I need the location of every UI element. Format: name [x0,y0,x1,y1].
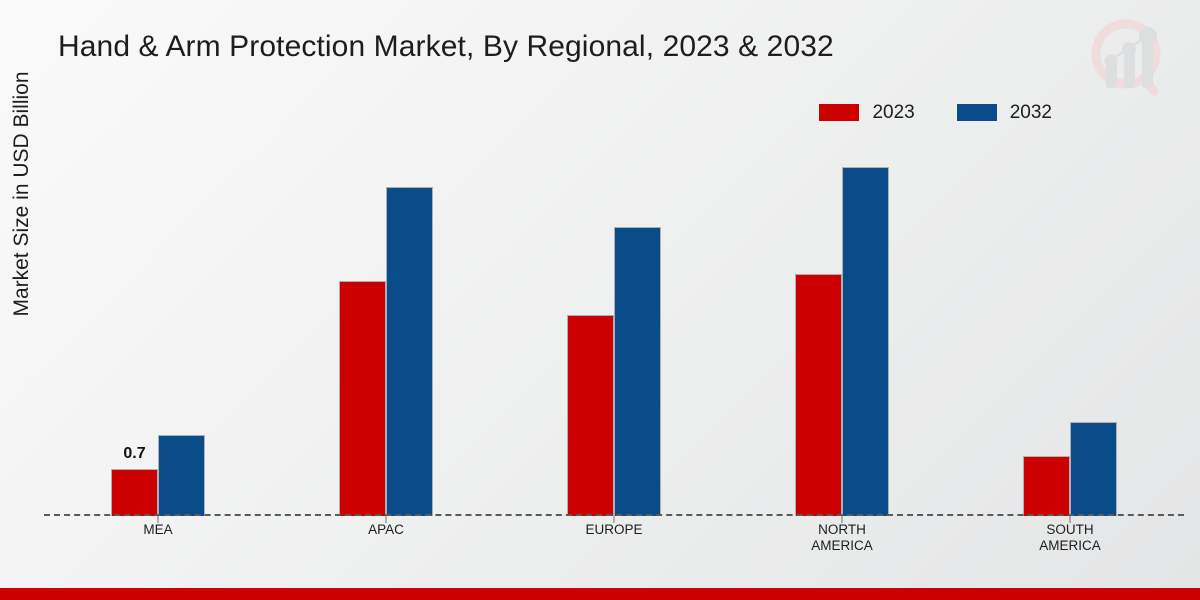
plot-area: 0.7 [44,140,1184,516]
tick-label-line: APAC [272,522,500,538]
footer-accent-bar [0,588,1200,600]
x-axis-tick-label-mea: MEA [44,522,272,554]
bar-group-mea: 0.7 [44,140,272,516]
tick-label-line: AMERICA [728,538,956,554]
bar-2032-south-america[interactable] [1070,422,1117,516]
bar-2032-mea[interactable] [158,435,205,516]
bar-group-south-america [956,140,1184,516]
x-axis-tick-labels: MEAAPACEUROPENORTHAMERICASOUTHAMERICA [44,522,1184,554]
bar-value-label: 0.7 [123,445,145,463]
bar-group-europe [500,140,728,516]
bar-2023-apac[interactable] [339,281,386,516]
bar-2032-apac[interactable] [386,187,433,516]
bar-2023-mea[interactable]: 0.7 [111,469,158,516]
legend-swatch-2023 [819,104,859,121]
x-axis-tick-label-south-america: SOUTHAMERICA [956,522,1184,554]
tick-label-line: SOUTH [956,522,1184,538]
chart-title: Hand & Arm Protection Market, By Regiona… [58,30,834,64]
chart-legend: 2023 2032 [819,103,1052,122]
x-axis-tick-label-north-america: NORTHAMERICA [728,522,956,554]
x-axis-baseline [44,514,1184,516]
magnifier-bar-chart-logo-icon [1082,12,1178,104]
tick-label-line: NORTH [728,522,956,538]
tick-label-line: MEA [44,522,272,538]
bar-2032-north-america[interactable] [842,167,889,516]
bar-2023-south-america[interactable] [1023,456,1070,516]
bar-group-apac [272,140,500,516]
bar-2023-north-america[interactable] [795,274,842,516]
bar-2023-europe[interactable] [567,315,614,516]
x-axis-tick-label-apac: APAC [272,522,500,554]
y-axis-title: Market Size in USD Billion [10,24,34,364]
legend-label-2032: 2032 [1010,103,1052,122]
x-axis-tick-label-europe: EUROPE [500,522,728,554]
legend-swatch-2032 [957,104,997,121]
tick-label-line: EUROPE [500,522,728,538]
chart-container: Hand & Arm Protection Market, By Regiona… [0,0,1200,600]
tick-label-line: AMERICA [956,538,1184,554]
bar-groups: 0.7 [44,140,1184,516]
legend-item-2032[interactable]: 2032 [957,103,1052,122]
bar-group-north-america [728,140,956,516]
bar-2032-europe[interactable] [614,227,661,516]
legend-label-2023: 2023 [872,103,914,122]
legend-item-2023[interactable]: 2023 [819,103,914,122]
